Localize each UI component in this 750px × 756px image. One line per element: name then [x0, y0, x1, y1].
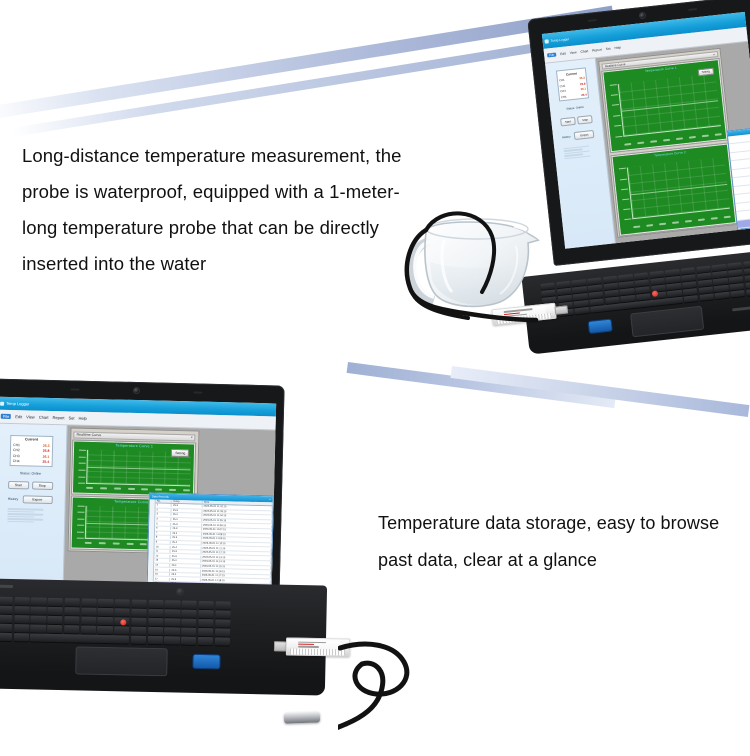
reading-label: CH3 [13, 454, 20, 458]
column-header-no[interactable]: No. [156, 499, 172, 502]
app-icon [544, 39, 548, 43]
close-icon[interactable]: × [269, 497, 271, 501]
table-cell: 25.3 [171, 550, 201, 554]
power-button[interactable] [177, 588, 183, 594]
reading-value: 25.4 [42, 460, 49, 464]
laptop-top-right: Temp Logger File Edit View Chart Report … [520, 18, 750, 338]
mic-dot-left-icon [588, 19, 597, 22]
reading-label: CH1 [559, 78, 565, 83]
readings-caption: Current [25, 438, 38, 442]
menu-item-set[interactable]: Set [68, 415, 74, 420]
webcam-icon [640, 13, 646, 19]
table-cell: 25.3 [170, 578, 200, 582]
product-image-canvas: Long-distance temperature measurement, t… [0, 0, 750, 750]
table-cell: 14 [154, 563, 170, 566]
reading-row: CH4 25.4 [13, 459, 49, 464]
reading-label: CH3 [560, 89, 566, 94]
table-cell: 25.5 [171, 536, 201, 540]
records-grid-inner: No. Temp Time 125.32023-05-01 11:02:1522… [147, 499, 272, 592]
chart-window-title: Realtime Curve [76, 433, 101, 438]
reading-label: CH2 [559, 83, 565, 88]
close-icon[interactable]: × [713, 52, 715, 56]
table-cell: 3 [155, 513, 171, 516]
menu-item-file[interactable]: File [547, 53, 557, 58]
reading-value: 25.3 [43, 444, 50, 448]
app-icon [0, 401, 4, 405]
intel-sticker [193, 655, 219, 669]
table-cell: 6 [155, 527, 171, 530]
reading-value: 25.3 [579, 76, 585, 81]
chart-1-series-line [88, 467, 190, 471]
readings-caption: Current [566, 71, 577, 76]
usb-temperature-module-bottom [286, 637, 350, 656]
reading-label: CH1 [13, 443, 20, 447]
temperature-probe-tip [284, 711, 320, 723]
table-cell: 1 [156, 504, 172, 507]
chart-1-plot-area [617, 73, 721, 136]
headline-top: Long-distance temperature measurement, t… [22, 138, 422, 282]
charts-container: Temperature Curve 1 [602, 57, 736, 235]
chart-mdi-window: Realtime Curve × Temperature Curve 1 [598, 48, 739, 239]
webcam-icon [134, 388, 139, 393]
temperature-chart-1: Temperature Curve 1 [602, 59, 727, 152]
export-button[interactable]: Export [574, 130, 595, 140]
reading-value: 25.8 [43, 449, 50, 453]
reading-row: CH3 26.1 [13, 454, 49, 459]
start-button[interactable]: Start [8, 481, 29, 490]
table-cell: 10 [155, 545, 171, 548]
touchpad[interactable] [75, 646, 168, 676]
stop-button[interactable]: Stop [577, 115, 593, 125]
history-list[interactable] [7, 508, 52, 523]
reading-row: CH4 25.4 [561, 92, 587, 99]
menu-item-edit[interactable]: Edit [560, 52, 566, 57]
menu-item-view[interactable]: View [570, 50, 577, 55]
table-cell: 12 [154, 554, 170, 557]
records-rows[interactable]: 125.32023-05-01 11:02:15225.32023-05-01 … [154, 503, 273, 592]
table-cell: 25.3 [172, 523, 202, 527]
menu-item-edit[interactable]: Edit [15, 414, 22, 419]
logger-app-top: Temp Logger File Edit View Chart Report … [542, 12, 750, 249]
mic-dot-right-icon [193, 391, 202, 393]
table-cell: 8 [155, 536, 171, 539]
table-cell: 25.4 [171, 559, 201, 563]
table-cell: 2 [156, 508, 172, 511]
readings-card: Current CH1 25.3 CH2 25.8 [10, 435, 53, 467]
logger-app-bottom: Temp Logger File Edit View Chart Report … [0, 397, 276, 594]
readings-card: Current CH1 25.3 CH2 25.8 [555, 68, 589, 101]
history-list[interactable] [563, 145, 597, 160]
status-text: Status: Online [20, 472, 41, 477]
sidebar-button-row: Start Stop [560, 115, 593, 126]
reading-row: CH1 25.3 [13, 443, 49, 448]
chart-2-y-axis [77, 505, 85, 539]
table-cell: 25.4 [170, 573, 200, 577]
table-cell: 25.4 [171, 564, 201, 568]
chart-2-series-line [630, 184, 727, 196]
mic-dot-right-icon [688, 8, 697, 11]
usb-module-grip [290, 649, 345, 655]
app-body: Current CH1 25.3 CH2 25.8 [545, 42, 750, 249]
glass-pitcher-with-probe [396, 196, 548, 336]
table-cell: 15 [154, 568, 170, 571]
decorative-diagonal-bar-2 [12, 38, 566, 136]
menu-item-help[interactable]: Help [614, 46, 621, 51]
laptop-base-bottom [0, 578, 327, 695]
headline-bottom: Temperature data storage, easy to browse… [378, 505, 748, 579]
history-label: History [562, 134, 571, 139]
table-cell: 25.3 [172, 509, 202, 513]
laptop-lid-top: Temp Logger File Edit View Chart Report … [527, 0, 750, 266]
brand-mark [0, 584, 13, 588]
reading-label: CH4 [561, 94, 567, 99]
data-records-window: Data Records × No. Temp [146, 492, 273, 593]
app-title-text: Temp Logger [6, 401, 29, 407]
reading-label: CH2 [13, 448, 20, 452]
reading-label: CH4 [13, 459, 20, 463]
stop-button[interactable]: Stop [32, 482, 53, 491]
history-row: History Export [8, 495, 53, 504]
table-cell: 25.5 [170, 568, 200, 572]
table-cell: 11 [155, 550, 171, 553]
history-label: History [8, 497, 19, 501]
menu-item-report[interactable]: Report [592, 48, 602, 53]
table-cell: 9 [155, 541, 171, 544]
records-grid-main: No. Temp Time 125.32023-05-01 11:02:1522… [154, 499, 273, 592]
laptop-screen-top: Temp Logger File Edit View Chart Report … [542, 12, 750, 249]
keyboard[interactable] [0, 596, 231, 645]
decorative-diagonal-bar-3 [347, 362, 616, 408]
mic-dot-left-icon [70, 388, 79, 390]
table-cell: 13 [154, 559, 170, 562]
status-text: Status: Online [566, 105, 584, 111]
records-title-text: Data Records [152, 494, 169, 498]
menu-item-chart[interactable]: Chart [39, 415, 49, 420]
reading-value: 26.1 [580, 87, 586, 92]
menu-item-report[interactable]: Report [52, 415, 64, 420]
table-cell: 25.4 [171, 532, 201, 536]
chart-1-setting-button[interactable]: Setting [171, 448, 189, 456]
table-cell: 25.3 [171, 555, 201, 559]
table-cell: 16 [154, 573, 170, 576]
chart-1-y-axis [78, 450, 86, 484]
reading-row: CH2 25.8 [13, 448, 49, 453]
laptop-bottom-left: Temp Logger File Edit View Chart Report … [0, 382, 326, 722]
app-title-text: Temp Logger [550, 37, 569, 43]
app-sidebar: Current CH1 25.3 CH2 25.8 [0, 423, 67, 588]
table-cell: 7 [155, 531, 171, 534]
menu-item-file[interactable]: File [1, 414, 12, 419]
usb-module-label [297, 640, 339, 649]
sidebar-button-row: Start Stop [8, 481, 53, 490]
chart-2-plot-area [627, 157, 731, 219]
chart-1-series-line [621, 100, 718, 112]
laptop-lid-bottom: Temp Logger File Edit View Chart Report … [0, 378, 285, 603]
decorative-diagonal-bar-4 [450, 366, 749, 417]
table-cell: 4 [155, 518, 171, 521]
menu-item-help[interactable]: Help [78, 416, 86, 421]
menu-item-view[interactable]: View [26, 414, 35, 419]
table-cell: 25.4 [172, 518, 202, 522]
table-cell: 25.4 [171, 541, 201, 545]
table-cell: 5 [155, 522, 171, 525]
reading-value: 26.1 [43, 455, 50, 459]
temperature-chart-1: Temperature Curve 1 [72, 440, 196, 496]
reading-value: 25.4 [581, 92, 587, 97]
start-button[interactable]: Start [560, 117, 576, 127]
menu-item-set[interactable]: Set [606, 47, 611, 51]
close-icon[interactable]: × [191, 435, 193, 439]
temperature-chart-2: Temperature Curve 2 [612, 144, 737, 236]
reading-value: 25.8 [580, 81, 586, 86]
table-cell: 25.4 [172, 513, 202, 517]
app-workspace: Realtime Curve × Temperature Curve 1 [63, 425, 275, 593]
app-workspace: Realtime Curve × Temperature Curve 1 [596, 42, 750, 243]
table-cell: 25.3 [171, 527, 201, 531]
trackpoint-icon[interactable] [120, 619, 126, 625]
history-row: History Export [561, 130, 594, 141]
app-body: Current CH1 25.3 CH2 25.8 [0, 423, 276, 593]
export-button[interactable]: Export [22, 495, 52, 504]
laptop-screen-bottom: Temp Logger File Edit View Chart Report … [0, 397, 276, 594]
chart-2-x-axis [633, 216, 732, 231]
table-cell: 17 [154, 577, 170, 580]
table-cell: 25.4 [171, 546, 201, 550]
table-cell: 25.3 [172, 504, 202, 508]
probe-cable-bottom [338, 626, 458, 756]
menu-item-chart[interactable]: Chart [580, 49, 588, 54]
pitcher-illustration [396, 196, 548, 336]
